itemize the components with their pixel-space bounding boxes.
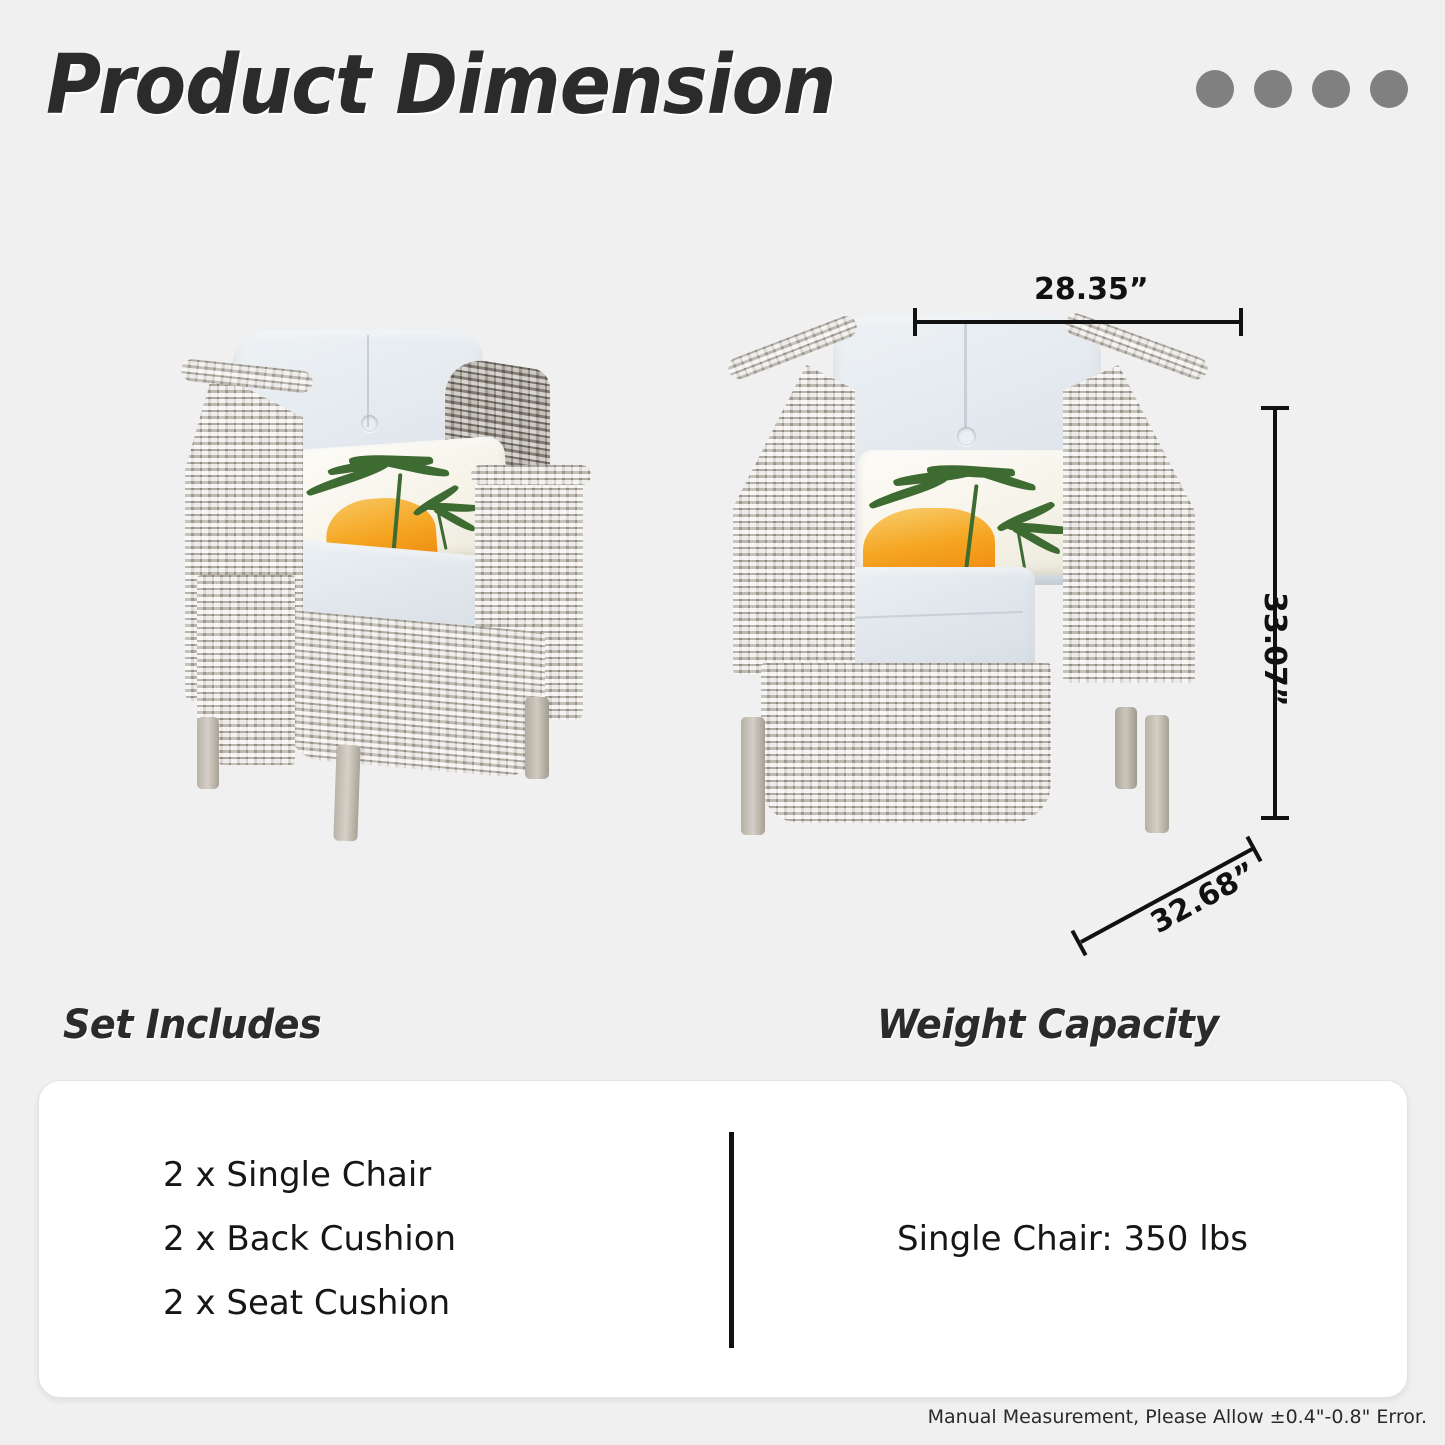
- infographic-page: Product Dimension: [0, 0, 1445, 1445]
- dot-indicator-4: [1370, 70, 1408, 108]
- dimension-height-label: 33.07”: [1257, 592, 1292, 707]
- dimension-height-cap-bottom: [1261, 816, 1289, 820]
- chair-left-leg-rear-right: [525, 697, 549, 779]
- chair-left-leg-front-right: [333, 745, 360, 842]
- dimension-width-label: 28.35”: [1034, 272, 1149, 307]
- pillow-leaf-6: [424, 501, 478, 513]
- dimension-width-cap-right: [1239, 308, 1243, 336]
- chair-right-leg-front-left: [741, 717, 765, 835]
- dimension-width-line: [915, 320, 1243, 324]
- dot-indicator-1: [1196, 70, 1234, 108]
- weight-capacity-value: Single Chair: 350 lbs: [897, 1219, 1248, 1259]
- chair-right-left-arm: [733, 365, 855, 675]
- pillow-sun-motif-right: [863, 508, 995, 575]
- dimension-width-cap-left: [913, 308, 917, 336]
- list-item: 2 x Back Cushion: [163, 1222, 456, 1256]
- chair-left: [175, 325, 675, 885]
- dot-indicator-group: [1196, 70, 1408, 108]
- set-includes-list: 2 x Single Chair 2 x Back Cushion 2 x Se…: [163, 1158, 456, 1350]
- chair-left-right-arm-top: [471, 465, 591, 485]
- chair-right-leg-front-right: [1145, 715, 1169, 833]
- list-item: 2 x Seat Cushion: [163, 1286, 456, 1320]
- dimension-depth-cap-start: [1071, 930, 1088, 957]
- chair-left-base-weave: [287, 610, 545, 781]
- chair-right-leg-rear-right: [1115, 707, 1137, 789]
- product-image-stage: 28.35” 33.07” 32.68”: [0, 250, 1445, 980]
- measurement-footnote: Manual Measurement, Please Allow ±0.4"-0…: [928, 1406, 1427, 1428]
- dimension-height-cap-top: [1261, 406, 1289, 410]
- chair-left-tuft-button: [361, 415, 378, 432]
- weight-capacity-heading: Weight Capacity: [877, 1002, 1219, 1048]
- chair-right-throw-pillow: [857, 450, 1085, 575]
- chair-right-right-arm: [1063, 365, 1195, 683]
- chair-right: [705, 315, 1225, 905]
- dot-indicator-3: [1312, 70, 1350, 108]
- page-title: Product Dimension: [46, 38, 835, 133]
- card-divider: [729, 1132, 734, 1348]
- set-includes-heading: Set Includes: [63, 1002, 321, 1048]
- chair-left-leg-front-left: [197, 717, 219, 789]
- chair-left-back-seam: [367, 335, 369, 427]
- chair-right-tuft-button: [957, 427, 976, 446]
- dot-indicator-2: [1254, 70, 1292, 108]
- chair-right-base-weave: [761, 663, 1051, 823]
- list-item: 2 x Single Chair: [163, 1158, 456, 1192]
- chair-right-back-seam: [964, 321, 967, 436]
